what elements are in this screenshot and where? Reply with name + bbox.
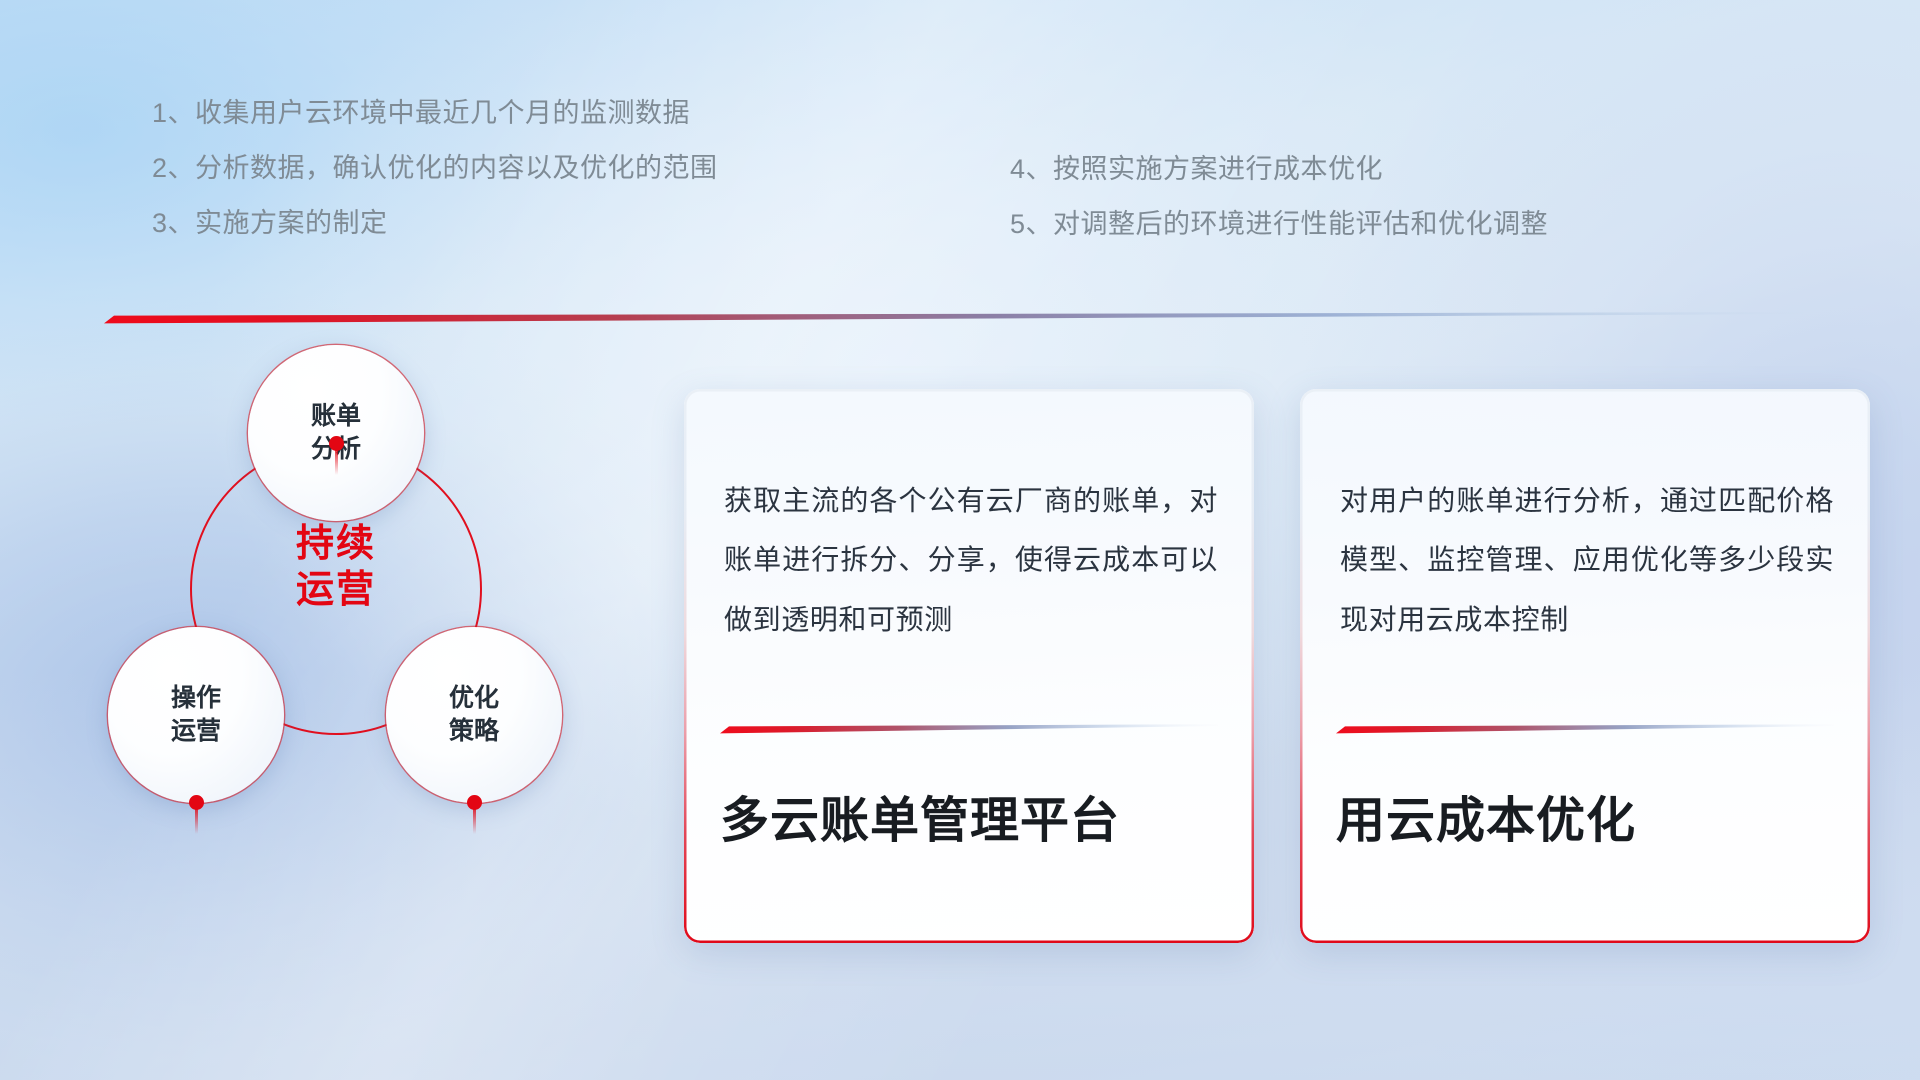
process-steps-left-column: 1、收集用户云环境中最近几个月的监测数据 2、分析数据，确认优化的内容以及优化的… bbox=[152, 100, 718, 237]
diagram-node-dot bbox=[189, 795, 204, 810]
diagram-lobe-bill-analysis[interactable]: 账单 分析 bbox=[248, 345, 424, 521]
process-step-item: 1、收集用户云环境中最近几个月的监测数据 bbox=[152, 100, 718, 127]
diagram-lobe-operations[interactable]: 操作 运营 bbox=[108, 627, 284, 803]
diagram-lobe-label-line1: 账单 bbox=[311, 400, 361, 434]
diagram-lobe-optimization-strategy[interactable]: 优化 策略 bbox=[386, 627, 562, 803]
diagram-node-tail bbox=[335, 449, 338, 475]
process-step-item: 5、对调整后的环境进行性能评估和优化调整 bbox=[1010, 211, 1548, 238]
process-steps-right-column: 4、按照实施方案进行成本优化 5、对调整后的环境进行性能评估和优化调整 bbox=[1010, 156, 1548, 238]
feature-card-divider bbox=[1336, 723, 1834, 734]
diagram-lobe-label-line1: 优化 bbox=[449, 682, 499, 716]
diagram-node-dot bbox=[329, 436, 344, 451]
diagram-center-label-line2: 运营 bbox=[190, 567, 482, 613]
diagram-lobe-label-line2: 运营 bbox=[171, 715, 221, 749]
process-step-item: 3、实施方案的制定 bbox=[152, 210, 718, 237]
diagram-node-dot bbox=[467, 795, 482, 810]
diagram-node-tail bbox=[195, 808, 198, 834]
diagram-node-tail bbox=[473, 808, 476, 834]
header-divider bbox=[104, 310, 1804, 324]
diagram-lobe-label-line1: 操作 bbox=[171, 682, 221, 716]
feature-card-description: 对用户的账单进行分析，通过匹配价格模型、监控管理、应用优化等多少段实现对用云成本… bbox=[1340, 471, 1834, 649]
feature-card-divider bbox=[720, 723, 1218, 734]
feature-card-title: 用云成本优化 bbox=[1336, 781, 1842, 852]
diagram-center-label: 持续 运营 bbox=[190, 521, 482, 614]
feature-card-description: 获取主流的各个公有云厂商的账单，对账单进行拆分、分享，使得云成本可以做到透明和可… bbox=[724, 471, 1218, 649]
slide-canvas: 1、收集用户云环境中最近几个月的监测数据 2、分析数据，确认优化的内容以及优化的… bbox=[0, 0, 1920, 1080]
process-step-item: 2、分析数据，确认优化的内容以及优化的范围 bbox=[152, 155, 718, 182]
diagram-lobe-label-line2: 策略 bbox=[449, 715, 499, 749]
feature-card-title: 多云账单管理平台 bbox=[720, 781, 1226, 852]
diagram-center-label-line1: 持续 bbox=[190, 521, 482, 567]
feature-card-cloud-cost-optimization[interactable]: 对用户的账单进行分析，通过匹配价格模型、监控管理、应用优化等多少段实现对用云成本… bbox=[1300, 389, 1870, 943]
continuous-operation-diagram: 账单 分析 操作 运营 优化 策略 持续 运营 bbox=[96, 345, 656, 945]
process-step-item: 4、按照实施方案进行成本优化 bbox=[1010, 156, 1548, 183]
feature-card-multicloud-billing[interactable]: 获取主流的各个公有云厂商的账单，对账单进行拆分、分享，使得云成本可以做到透明和可… bbox=[684, 389, 1254, 943]
